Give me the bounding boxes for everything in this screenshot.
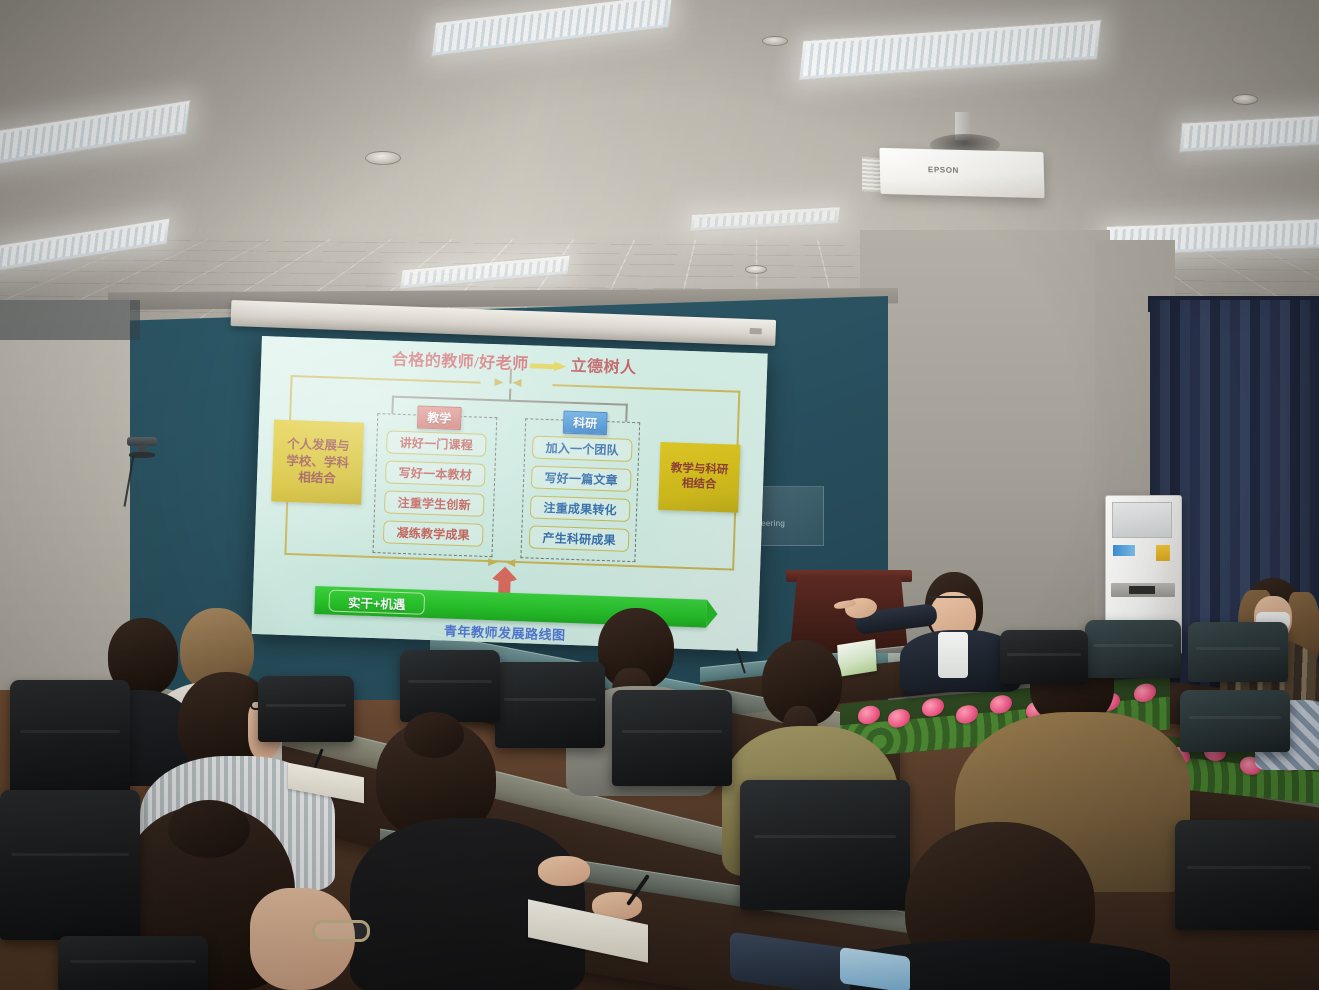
ac-energy-label xyxy=(1113,545,1135,556)
chair[interactable] xyxy=(400,650,500,722)
chair[interactable] xyxy=(1180,690,1290,752)
gold-arrow-left-icon xyxy=(494,378,503,386)
hair-bun xyxy=(168,800,250,858)
glasses-icon xyxy=(312,920,370,942)
conference-camera-icon xyxy=(127,437,157,453)
slide-title-right: 立德树人 xyxy=(570,358,637,377)
chair[interactable] xyxy=(740,780,910,910)
gold-arrow-right-icon xyxy=(512,379,521,387)
teaching-item-4: 凝练教学成果 xyxy=(383,520,484,546)
chair[interactable] xyxy=(10,680,130,800)
chair[interactable] xyxy=(1175,820,1319,930)
chair[interactable] xyxy=(0,790,140,940)
smoke-detector-icon xyxy=(365,151,401,165)
ac-grille xyxy=(1112,502,1172,538)
gold-frame-top-left xyxy=(291,375,481,384)
pink-flower xyxy=(922,697,944,717)
chair[interactable] xyxy=(1000,630,1088,684)
ac-sticker xyxy=(1156,545,1170,561)
wall-left-upper-band xyxy=(0,300,140,340)
side-box-right: 教学与科研 相结合 xyxy=(658,442,740,513)
smoke-detector-icon xyxy=(745,265,767,274)
teaching-item-2: 写好一本教材 xyxy=(385,460,486,486)
research-item-2: 写好一篇文章 xyxy=(531,465,632,491)
research-item-4: 产生科研成果 xyxy=(529,525,630,551)
chair[interactable] xyxy=(58,936,208,990)
smoke-detector-icon xyxy=(762,36,788,46)
chair[interactable] xyxy=(258,676,354,742)
projector-brand-label: EPSON xyxy=(928,165,959,175)
category-header-research: 科研 xyxy=(563,411,608,436)
glasses-icon xyxy=(927,596,969,605)
projection-screen: 合格的教师/好老师立德树人 个人发展与 学校、学科 相结合 xyxy=(252,336,768,651)
teaching-item-3: 注重学生创新 xyxy=(384,490,485,516)
ceiling-projector: EPSON xyxy=(879,148,1044,198)
side-box-left: 个人发展与 学校、学科 相结合 xyxy=(271,419,364,504)
chair[interactable] xyxy=(1188,622,1288,682)
presenter-shirt xyxy=(938,632,968,678)
slide-title-main: 合格的教师/好老师 xyxy=(391,352,528,374)
side-box-left-line3: 相结合 xyxy=(286,469,349,488)
side-box-right-line2: 相结合 xyxy=(670,476,728,493)
slide-content: 合格的教师/好老师立德树人 个人发展与 学校、学科 相结合 xyxy=(252,336,768,651)
smoke-detector-icon xyxy=(1232,94,1258,105)
chair[interactable] xyxy=(612,690,732,786)
side-box-left-line2: 学校、学科 xyxy=(286,453,349,472)
screenshot-scene: EPSON lion Engineering 合格的教师/好老师立德树人 xyxy=(0,0,1319,990)
side-box-right-line1: 教学与科研 xyxy=(671,461,729,478)
tissue-box xyxy=(837,639,877,677)
research-item-3: 注重成果转化 xyxy=(530,495,631,521)
tree-connector-right-drop xyxy=(625,404,628,422)
teaching-item-1: 讲好一门课程 xyxy=(386,430,487,456)
right-arrow-icon xyxy=(530,361,568,371)
tree-connector-left-drop xyxy=(391,396,394,414)
side-box-left-line1: 个人发展与 xyxy=(287,436,350,455)
category-header-teaching: 教学 xyxy=(417,405,462,430)
chair[interactable] xyxy=(1085,620,1181,678)
hair-bun xyxy=(404,712,464,758)
attendee-hand xyxy=(538,856,590,886)
gold-frame-top-right xyxy=(552,384,740,393)
green-bar-label: 实干+机遇 xyxy=(328,589,425,614)
research-item-1: 加入一个团队 xyxy=(532,436,633,462)
chair[interactable] xyxy=(495,662,605,748)
ac-control-panel xyxy=(1111,583,1175,597)
